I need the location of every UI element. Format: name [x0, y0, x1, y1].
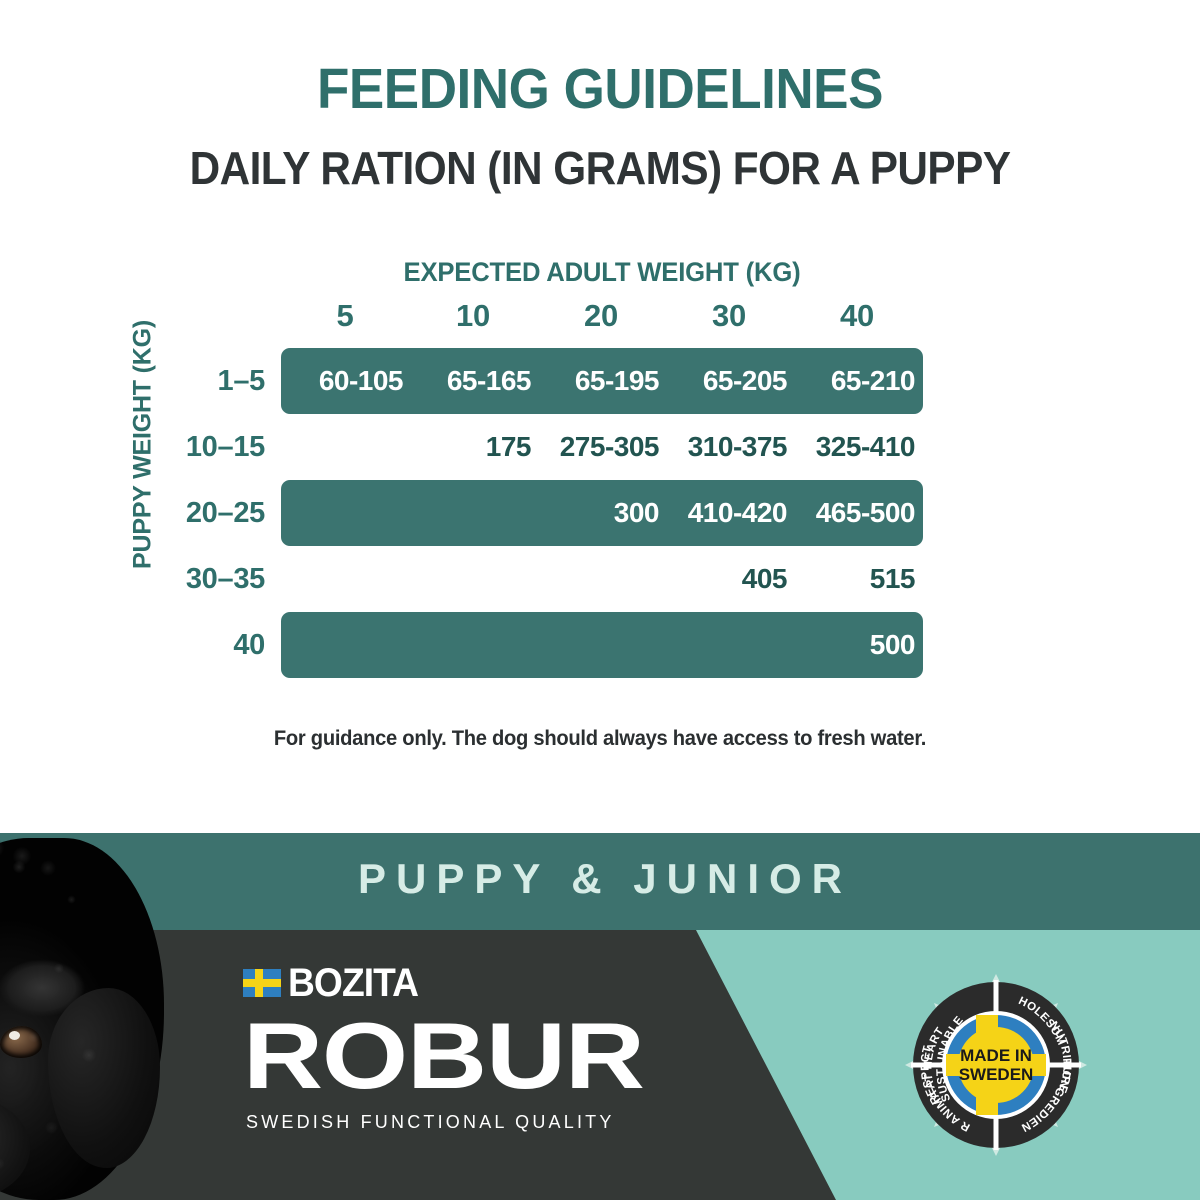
cell-r4-c2 — [537, 612, 665, 678]
table-body: 1–5 60-105 65-165 65-195 65-205 65-210 1… — [0, 286, 1200, 616]
cell-r1-c1: 175 — [409, 414, 537, 480]
row-header-2: 20–25 — [155, 480, 265, 546]
table-row: 20–25 300 410-420 465-500 — [0, 480, 1200, 546]
cell-r0-c0: 60-105 — [281, 348, 409, 414]
row-header-1: 10–15 — [155, 414, 265, 480]
footnote: For guidance only. The dog should always… — [24, 727, 1176, 751]
cell-r4-c0 — [281, 612, 409, 678]
row-header-4: 40 — [155, 612, 265, 678]
swedish-flag-icon — [243, 969, 281, 997]
product-name: ROBUR — [243, 1008, 739, 1104]
bozita-robur-logo: BOZITA ROBUR SWEDISH FUNCTIONAL QUALITY — [243, 962, 663, 1133]
table-row: 30–35 405 515 — [0, 546, 1200, 612]
cell-r3-c1 — [409, 546, 537, 612]
cell-r4-c4: 500 — [793, 612, 921, 678]
cell-r3-c2 — [537, 546, 665, 612]
cell-r2-c3: 410-420 — [665, 480, 793, 546]
cell-r3-c0 — [281, 546, 409, 612]
cell-r3-c4: 515 — [793, 546, 921, 612]
cell-r0-c1: 65-165 — [409, 348, 537, 414]
cell-r3-c3: 405 — [665, 546, 793, 612]
cell-r1-c0 — [281, 414, 409, 480]
made-in-sweden-badge: MADE IN SWEDEN SUSTAINABLE AT HEART WHOL… — [903, 972, 1089, 1158]
brand-name: BOZITA — [288, 963, 418, 1003]
row-header-3: 30–35 — [155, 546, 265, 612]
badge-center-line1: MADE IN — [960, 1046, 1032, 1065]
table-row: 10–15 175 275-305 310-375 325-410 — [0, 414, 1200, 480]
cell-r4-c1 — [409, 612, 537, 678]
logo-tagline: SWEDISH FUNCTIONAL QUALITY — [246, 1112, 663, 1133]
table-row: 40 500 — [0, 612, 1200, 678]
badge-center-line2: SWEDEN — [959, 1065, 1034, 1084]
brand-row: BOZITA — [243, 962, 663, 1004]
cell-r2-c4: 465-500 — [793, 480, 921, 546]
cell-r1-c2: 275-305 — [537, 414, 665, 480]
cell-r1-c3: 310-375 — [665, 414, 793, 480]
puppy-photo — [0, 812, 210, 1200]
cell-r4-c3 — [665, 612, 793, 678]
cell-r0-c4: 65-210 — [793, 348, 921, 414]
cell-r0-c2: 65-195 — [537, 348, 665, 414]
cell-r1-c4: 325-410 — [793, 414, 921, 480]
row-header-0: 1–5 — [155, 348, 265, 414]
feeding-table: EXPECTED ADULT WEIGHT (KG) PUPPY WEIGHT … — [0, 0, 1200, 780]
cell-r2-c1 — [409, 480, 537, 546]
cell-r2-c2: 300 — [537, 480, 665, 546]
cell-r2-c0 — [281, 480, 409, 546]
table-row: 1–5 60-105 65-165 65-195 65-205 65-210 — [0, 348, 1200, 414]
cell-r0-c3: 65-205 — [665, 348, 793, 414]
column-axis-title: EXPECTED ADULT WEIGHT (KG) — [297, 257, 907, 288]
feeding-guidelines-page: FEEDING GUIDELINES DAILY RATION (IN GRAM… — [0, 0, 1200, 1200]
